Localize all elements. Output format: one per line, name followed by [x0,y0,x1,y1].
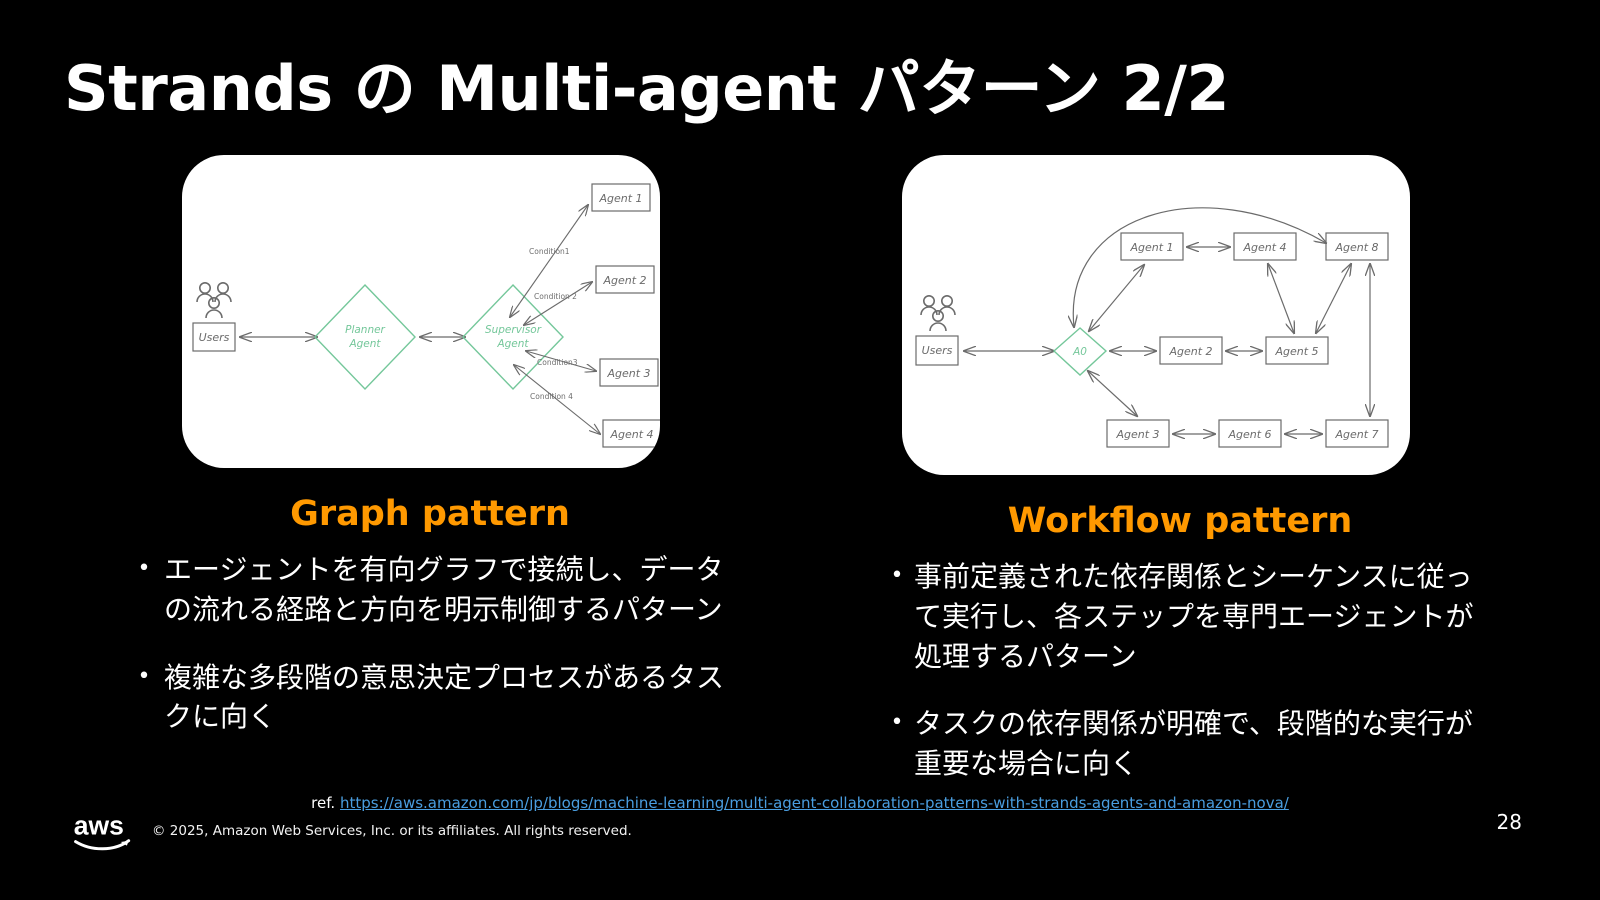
agent-node-1-label: Agent 1 [1129,241,1173,254]
agent-node-2-label: Agent 2 [602,274,646,287]
svg-text:aws: aws [74,811,124,841]
planner-agent-label-2: Agent [348,338,381,350]
users-group-icon [921,296,955,331]
page-number: 28 [1497,810,1522,834]
bullet-text: タスクの依存関係が明確で、段階的な実行が重要な場合に向く [914,704,1490,784]
copyright-text: © 2025, Amazon Web Services, Inc. or its… [152,823,632,839]
bullet-marker: • [120,658,164,738]
left-column: Users Planner Agent Supervisor Agent Age… [120,155,740,765]
orchestrator-node-a0-label: A0 [1072,346,1087,358]
list-item: • 事前定義された依存関係とシーケンスに従って実行し、各ステップを専門エージェン… [870,557,1490,676]
bullet-marker: • [870,704,914,784]
edge-label-condition-3: Condition3 [537,358,578,367]
edge-label-condition-2: Condition 2 [534,292,577,301]
page-title: Strands の Multi-agent パターン 2/2 [64,38,1229,128]
bullet-text: エージェントを有向グラフで接続し、データの流れる経路と方向を明示制御するパターン [164,550,740,630]
agent-node-4-label: Agent 4 [609,428,653,441]
agent-node-4-label: Agent 4 [1242,241,1286,254]
agent-node-5-label: Agent 5 [1274,345,1318,358]
users-node-label: Users [199,331,230,344]
agent-node-2-label: Agent 2 [1168,345,1212,358]
bullet-marker: • [120,550,164,630]
slide: Strands の Multi-agent パターン 2/2 [0,0,1600,900]
reference-line: ref. https://aws.amazon.com/jp/blogs/mac… [0,794,1600,812]
users-group-icon [197,283,231,318]
supervisor-agent-label-1: Supervisor [485,324,542,336]
bullet-marker: • [870,557,914,676]
graph-pattern-diagram-card: Users Planner Agent Supervisor Agent Age… [182,155,660,468]
reference-prefix: ref. [311,794,335,812]
agent-node-3-label: Agent 3 [606,367,650,380]
workflow-pattern-heading: Workflow pattern [870,501,1490,541]
bullet-text: 事前定義された依存関係とシーケンスに従って実行し、各ステップを専門エージェントが… [914,557,1490,676]
right-column: Users A0 Agent 1 Agent 4 Agent 8 Agent 2… [870,155,1490,812]
bullet-text: 複雑な多段階の意思決定プロセスがあるタスクに向く [164,658,740,738]
agent-node-3-label: Agent 3 [1115,428,1159,441]
workflow-pattern-bullets: • 事前定義された依存関係とシーケンスに従って実行し、各ステップを専門エージェン… [870,557,1490,784]
graph-pattern-bullets: • エージェントを有向グラフで接続し、データの流れる経路と方向を明示制御するパタ… [120,550,740,737]
list-item: • 複雑な多段階の意思決定プロセスがあるタスクに向く [120,658,740,738]
planner-agent-label-1: Planner [345,324,385,336]
edge-label-condition-4: Condition 4 [530,392,573,401]
planner-agent-node [315,285,415,389]
agent-node-7-label: Agent 7 [1334,428,1378,441]
users-node-label: Users [922,344,953,357]
agent-node-1-label: Agent 1 [598,192,642,205]
reference-link[interactable]: https://aws.amazon.com/jp/blogs/machine-… [340,794,1289,812]
list-item: • エージェントを有向グラフで接続し、データの流れる経路と方向を明示制御するパタ… [120,550,740,630]
graph-pattern-heading: Graph pattern [120,494,740,534]
agent-node-8-label: Agent 8 [1334,241,1378,254]
agent-node-6-label: Agent 6 [1227,428,1271,441]
edge-label-condition-1: Condition1 [529,247,570,256]
aws-logo: aws [72,808,134,854]
workflow-pattern-diagram-card: Users A0 Agent 1 Agent 4 Agent 8 Agent 2… [902,155,1410,475]
supervisor-agent-label-2: Agent [496,338,529,350]
list-item: • タスクの依存関係が明確で、段階的な実行が重要な場合に向く [870,704,1490,784]
